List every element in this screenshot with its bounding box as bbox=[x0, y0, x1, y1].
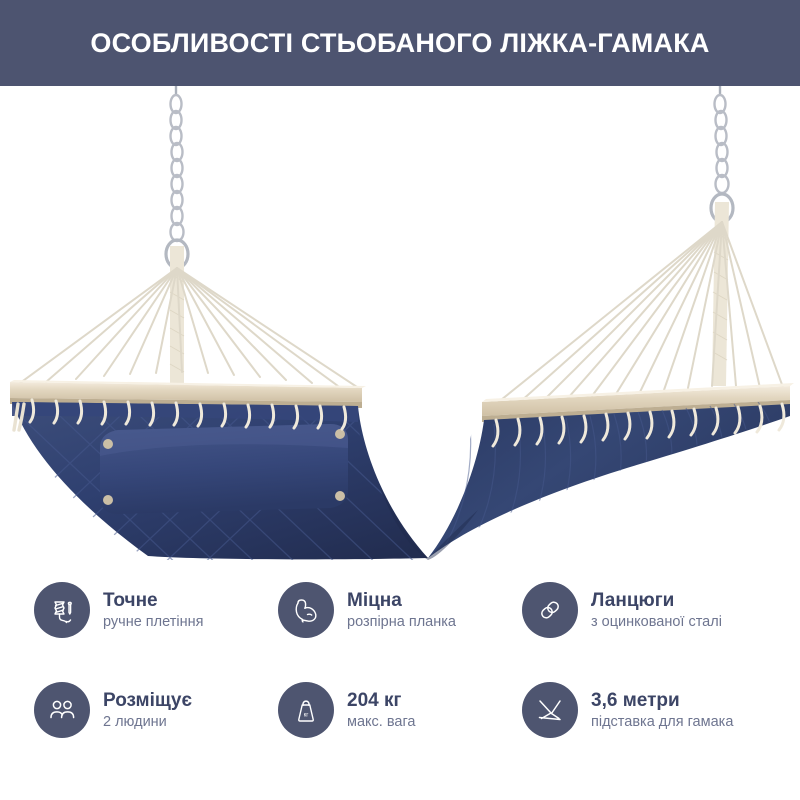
feature-text: 3,6 метри підставка для гамака bbox=[591, 690, 733, 730]
feature-item-strong: Міцна розпірна планка bbox=[278, 560, 522, 660]
feature-subtitle: 2 людини bbox=[103, 714, 192, 730]
feature-list: Точне ручне плетіння Міцна розпірна план… bbox=[0, 560, 800, 760]
pillow-snap-button bbox=[103, 439, 113, 449]
pillow-snap-button bbox=[335, 429, 345, 439]
two-people-icon bbox=[34, 682, 90, 738]
hammock-illustration bbox=[0, 86, 800, 560]
left-chain-icon bbox=[171, 86, 184, 241]
feature-text: Міцна розпірна планка bbox=[347, 590, 456, 630]
hero-product-image bbox=[0, 86, 800, 560]
pillow-snap-button bbox=[103, 495, 113, 505]
feature-text: Точне ручне плетіння bbox=[103, 590, 203, 630]
chain-links-icon bbox=[522, 582, 578, 638]
feature-subtitle: з оцинкованої сталі bbox=[591, 614, 722, 630]
weight-icon-label: кг bbox=[304, 712, 310, 718]
page-header: ОСОБЛИВОСТІ СТЬОБАНОГО ЛІЖКА-ГАМАКА bbox=[0, 0, 800, 86]
feature-text: Розміщує 2 людини bbox=[103, 690, 192, 730]
feature-title: 204 кг bbox=[347, 690, 416, 711]
feature-item-capacity: Розміщує 2 людини bbox=[34, 660, 278, 760]
feature-title: Ланцюги bbox=[591, 590, 722, 611]
thread-spool-needle-icon bbox=[34, 582, 90, 638]
feature-text: Ланцюги з оцинкованої сталі bbox=[591, 590, 722, 630]
feature-item-stand-length: 3,6 метри підставка для гамака bbox=[522, 660, 766, 760]
feature-subtitle: розпірна планка bbox=[347, 614, 456, 630]
flexed-biceps-icon bbox=[278, 582, 334, 638]
right-rope-fan bbox=[496, 222, 784, 404]
right-chain-icon bbox=[715, 86, 729, 193]
feature-title: 3,6 метри bbox=[591, 690, 733, 711]
feature-item-chains: Ланцюги з оцинкованої сталі bbox=[522, 560, 766, 660]
feature-subtitle: ручне плетіння bbox=[103, 614, 203, 630]
feature-title: Міцна bbox=[347, 590, 456, 611]
weight-kg-icon: кг bbox=[278, 682, 334, 738]
hammock-pillow bbox=[100, 424, 348, 514]
page-title: ОСОБЛИВОСТІ СТЬОБАНОГО ЛІЖКА-ГАМАКА bbox=[90, 28, 709, 59]
feature-title: Точне bbox=[103, 590, 203, 611]
feature-text: 204 кг макс. вага bbox=[347, 690, 416, 730]
feature-subtitle: підставка для гамака bbox=[591, 714, 733, 730]
pillow-snap-button bbox=[335, 491, 345, 501]
hammock-stand-icon bbox=[522, 682, 578, 738]
feature-title: Розміщує bbox=[103, 690, 192, 711]
feature-item-max-weight: кг 204 кг макс. вага bbox=[278, 660, 522, 760]
left-rope-fan bbox=[16, 268, 360, 389]
feature-item-precise: Точне ручне плетіння bbox=[34, 560, 278, 660]
feature-subtitle: макс. вага bbox=[347, 714, 416, 730]
